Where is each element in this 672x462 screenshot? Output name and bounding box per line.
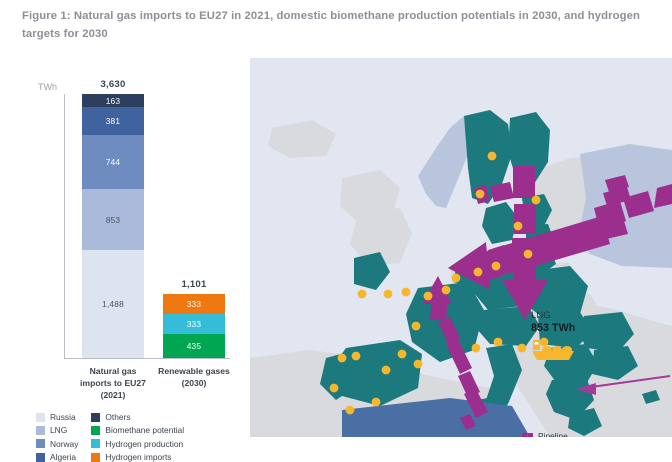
legend-item-others[interactable]: Others: [91, 412, 184, 422]
legend-item-lng[interactable]: LNG: [36, 425, 78, 435]
bar-segment-value: 744: [106, 157, 121, 167]
bar-segment-algeria[interactable]: 381: [82, 107, 144, 135]
legend-label: Algeria: [50, 452, 76, 462]
category-label-line: (2030): [134, 377, 254, 389]
bar-total-renewable-gases: 1,101: [144, 279, 244, 290]
category-label-line: Renewable gases: [134, 365, 254, 377]
map-legend-label-pipeline: Pipeline: [538, 431, 568, 437]
map-svg: [250, 58, 672, 437]
bar-total-natural-gas: 3,630: [63, 79, 163, 90]
legend-swatch-icon: [36, 413, 45, 422]
callout-lng-name: LNG: [531, 310, 611, 322]
bar-segment-value: 333: [187, 299, 202, 309]
europe-gas-import-map: Norway 744 TWh Russia 1,488 TWh LNG 853 …: [250, 58, 672, 437]
legend-item-hydrogen-imports[interactable]: Hydrogen imports: [91, 452, 184, 462]
x-axis-line: [64, 358, 230, 359]
legend-item-biomethane-potential[interactable]: Biomethane potential: [91, 425, 184, 435]
legend-label: Hydrogen production: [105, 439, 183, 449]
bar-segment-value: 163: [106, 96, 121, 106]
legend-item-russia[interactable]: Russia: [36, 412, 78, 422]
legend-item-hydrogen-production[interactable]: Hydrogen production: [91, 439, 184, 449]
bar-segment-biomethane-potential[interactable]: 435: [163, 334, 225, 358]
callout-norway-name: Norway: [635, 210, 672, 222]
stacked-bar-chart: TWh 3,630 1633817448531,488 1,101 333333…: [0, 62, 250, 437]
bar-segment-lng[interactable]: 853: [82, 189, 144, 250]
legend-label: Biomethane potential: [105, 425, 184, 435]
legend-column-fossil: RussiaLNGNorwayAlgeria: [36, 412, 78, 462]
legend-label: LNG: [50, 425, 67, 435]
legend-swatch-icon: [91, 439, 100, 448]
legend-swatch-icon: [91, 453, 100, 462]
legend-label: Others: [105, 412, 130, 422]
callout-norway-value: 744 TWh: [635, 222, 672, 236]
legend-swatch-icon: [91, 413, 100, 422]
callout-norway: Norway 744 TWh: [635, 210, 672, 236]
bar-natural-gas-imports[interactable]: 1633817448531,488: [82, 94, 144, 358]
y-axis-unit-label: TWh: [38, 82, 57, 92]
legend-swatch-icon: [36, 439, 45, 448]
category-label-renewable-gases: Renewable gases(2030): [134, 365, 254, 389]
legend-label: Russia: [50, 412, 76, 422]
legend-label: Hydrogen imports: [105, 452, 171, 462]
callout-lng-value: 853 TWh: [531, 322, 611, 336]
bar-segment-value: 1,488: [102, 299, 124, 309]
chart-legend: RussiaLNGNorwayAlgeria OthersBiomethane …: [36, 412, 184, 462]
legend-item-algeria[interactable]: Algeria: [36, 452, 78, 462]
pipeline-icon: [522, 433, 533, 437]
map-legend: Pipeline LNG: [522, 431, 568, 437]
bar-segment-value: 435: [187, 341, 202, 351]
legend-column-renewable: OthersBiomethane potentialHydrogen produ…: [91, 412, 184, 462]
category-label-line: (2021): [53, 389, 173, 401]
bar-segment-hydrogen-imports[interactable]: 333: [163, 294, 225, 314]
callout-lng: LNG 853 TWh: [531, 310, 611, 336]
legend-item-norway[interactable]: Norway: [36, 439, 78, 449]
legend-swatch-icon: [36, 453, 45, 462]
bar-segment-norway[interactable]: 744: [82, 135, 144, 189]
bar-segment-value: 381: [106, 116, 121, 126]
map-legend-item-pipeline: Pipeline: [522, 431, 568, 437]
bar-segment-value: 333: [187, 319, 202, 329]
legend-swatch-icon: [91, 426, 100, 435]
y-axis-line: [64, 94, 65, 358]
bar-segment-hydrogen-production[interactable]: 333: [163, 314, 225, 334]
bar-segment-others[interactable]: 163: [82, 94, 144, 107]
bar-segment-value: 853: [106, 215, 121, 225]
bar-segment-russia[interactable]: 1,488: [82, 250, 144, 358]
bar-renewable-gases[interactable]: 333333435: [163, 294, 225, 358]
legend-label: Norway: [50, 439, 78, 449]
page-title: Figure 1: Natural gas imports to EU27 in…: [22, 8, 652, 43]
legend-swatch-icon: [36, 426, 45, 435]
lng-tanker-ship-icon: [530, 336, 576, 362]
